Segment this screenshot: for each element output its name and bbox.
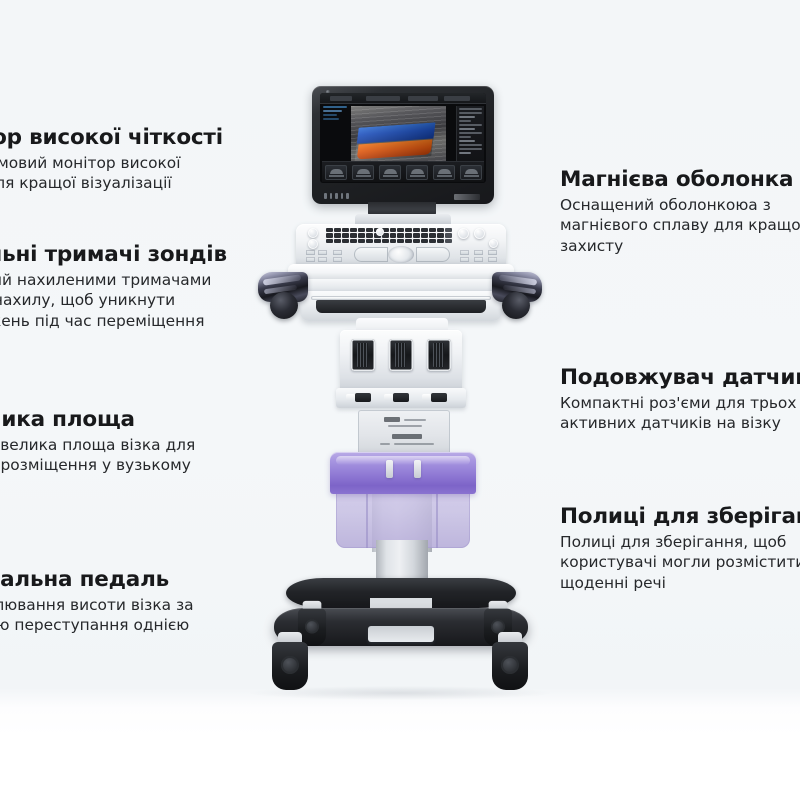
caster-fork-fl xyxy=(272,642,308,690)
probe-holder-ball-left xyxy=(270,292,298,319)
console-key-b1[interactable] xyxy=(333,250,342,255)
softkey-2[interactable] xyxy=(352,165,374,180)
doppler-ultrasound-image xyxy=(351,106,446,161)
brand-logo xyxy=(454,194,480,200)
console-arc-button-left[interactable] xyxy=(354,247,388,262)
screen-softkey-row[interactable] xyxy=(322,161,484,182)
product-feature-poster: нітор високої чіткості -дюймовий монітор… xyxy=(0,0,800,800)
console-knob-2[interactable] xyxy=(308,239,318,249)
device-label-plate xyxy=(358,410,450,456)
monitor-bezel xyxy=(312,86,494,204)
softkey-5[interactable] xyxy=(433,165,455,180)
connector-latch-3[interactable] xyxy=(431,393,447,402)
ultrasound-cart-illustration xyxy=(0,0,800,800)
connector-latch-2[interactable] xyxy=(393,393,409,402)
console-knob-1[interactable] xyxy=(308,228,318,238)
console-key-a1[interactable] xyxy=(306,250,315,255)
softkey-3[interactable] xyxy=(379,165,401,180)
console-key-c5[interactable] xyxy=(488,250,497,255)
probe-holder-right[interactable] xyxy=(486,272,542,322)
softkey-6[interactable] xyxy=(460,165,482,180)
connector-latch-bar[interactable] xyxy=(336,388,466,408)
connector-latch-1[interactable] xyxy=(355,393,371,402)
transducer-port-2[interactable] xyxy=(389,339,413,371)
doppler-flow-box xyxy=(354,122,435,161)
softkey-1[interactable] xyxy=(325,165,347,180)
console-key-a3[interactable] xyxy=(318,250,327,255)
console-knob-4[interactable] xyxy=(474,228,485,239)
console-trackball[interactable] xyxy=(388,246,414,263)
transducer-connector-box[interactable] xyxy=(340,330,462,396)
console-knob-6[interactable] xyxy=(376,228,384,236)
console-key-c1[interactable] xyxy=(460,250,469,255)
console-key-c4[interactable] xyxy=(474,257,483,262)
console-key-a2[interactable] xyxy=(306,257,315,262)
console-key-c3[interactable] xyxy=(474,250,483,255)
console-arc-button-right[interactable] xyxy=(416,247,450,262)
console-handle-tray[interactable] xyxy=(300,291,502,321)
basket-hook-right xyxy=(414,460,421,478)
caster-fork-fr xyxy=(492,642,528,690)
cart-handle-bar[interactable] xyxy=(316,300,486,313)
console-key-c6[interactable] xyxy=(488,257,497,262)
control-console[interactable] xyxy=(296,224,506,268)
storage-basket-rim xyxy=(330,452,476,494)
softkey-4[interactable] xyxy=(406,165,428,180)
screen-right-menu xyxy=(456,106,484,161)
probe-holder-left[interactable] xyxy=(258,272,314,322)
transducer-port-1[interactable] xyxy=(351,339,375,371)
screen-topbar xyxy=(320,93,486,104)
doppler-shading xyxy=(354,122,435,161)
storage-basket-body xyxy=(336,488,470,548)
floor-shadow xyxy=(250,686,550,700)
monitor-indicator-leds xyxy=(324,193,349,199)
console-key-c2[interactable] xyxy=(460,257,469,262)
basket-hook-left xyxy=(386,460,393,478)
console-key-a4[interactable] xyxy=(318,257,327,262)
console-knob-3[interactable] xyxy=(458,228,469,239)
caster-wheel-front-right xyxy=(492,632,528,694)
console-key-b2[interactable] xyxy=(333,257,342,262)
storage-basket[interactable] xyxy=(330,452,476,550)
probe-holder-ball-right xyxy=(502,292,530,319)
transducer-port-3[interactable] xyxy=(427,339,451,371)
caster-wheel-front-left xyxy=(272,632,308,694)
central-foot-pedal[interactable] xyxy=(368,626,434,642)
console-keyboard[interactable] xyxy=(326,228,452,243)
monitor-screen xyxy=(320,93,486,183)
console-knob-5[interactable] xyxy=(489,239,498,248)
